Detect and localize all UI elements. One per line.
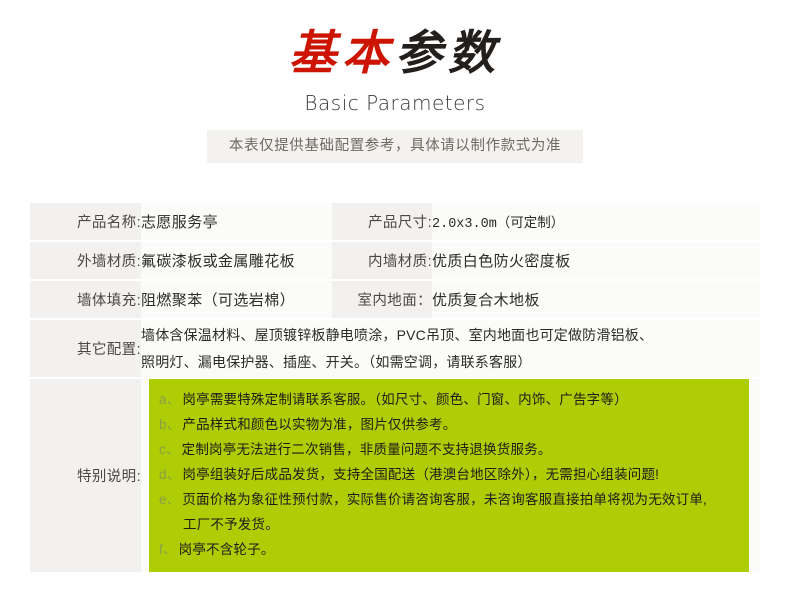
spec-table: 产品名称: 志愿服务亭 产品尺寸: 2.0x3.0m（可定制） 外墙材质: 氟碳… bbox=[30, 203, 760, 572]
cell-value-other-config: 墙体含保温材料、屋顶镀锌板静电喷涂，PVC吊顶、室内地面也可定做防滑铝板、 照明… bbox=[141, 319, 760, 378]
note-bullet: d、 bbox=[159, 467, 182, 482]
note-item: c、定制岗亭无法进行二次销售，非质量问题不支持退换货服务。 bbox=[159, 437, 739, 462]
table-row: 墙体填充: 阻燃聚苯（可选岩棉） 室内地面： 优质复合木地板 bbox=[30, 280, 760, 319]
special-note-box: a、岗亭需要特殊定制请联系客服。（如尺寸、颜色、门窗、内饰、广告字等） b、产品… bbox=[149, 379, 749, 572]
cell-value-product-name: 志愿服务亭 bbox=[141, 203, 332, 241]
cell-value-product-size: 2.0x3.0m（可定制） bbox=[432, 203, 760, 241]
note-bullet: b、 bbox=[159, 417, 182, 432]
cell-label-product-size: 产品尺寸: bbox=[332, 203, 432, 241]
table-row: 产品名称: 志愿服务亭 产品尺寸: 2.0x3.0m（可定制） bbox=[30, 203, 760, 241]
cell-value-interior-material: 优质白色防火密度板 bbox=[432, 241, 760, 280]
cell-value-indoor-floor: 优质复合木地板 bbox=[432, 280, 760, 319]
note-item: a、岗亭需要特殊定制请联系客服。（如尺寸、颜色、门窗、内饰、广告字等） bbox=[159, 387, 739, 412]
page-bottom-spacer bbox=[30, 565, 760, 566]
note-item-continuation: 工厂不予发货。 bbox=[159, 512, 739, 537]
cell-label-other-config: 其它配置: bbox=[30, 319, 141, 378]
notice-banner-wrap: 本表仅提供基础配置参考，具体请以制作款式为准 bbox=[0, 130, 790, 163]
cell-label-exterior-material: 外墙材质: bbox=[30, 241, 141, 280]
note-item: e、页面价格为象征性预付款，实际售价请咨询客服，未咨询客服直接拍单将视为无效订单… bbox=[159, 487, 739, 512]
note-text: 工厂不予发货。 bbox=[183, 517, 279, 532]
cell-value-special-note: a、岗亭需要特殊定制请联系客服。（如尺寸、颜色、门窗、内饰、广告字等） b、产品… bbox=[141, 378, 760, 572]
cell-label-product-name: 产品名称: bbox=[30, 203, 141, 241]
note-bullet: a、 bbox=[159, 392, 182, 407]
cell-label-interior-material: 内墙材质: bbox=[332, 241, 432, 280]
note-text: 岗亭不含轮子。 bbox=[179, 542, 275, 557]
page-title-red: 基本 bbox=[289, 28, 395, 80]
page-title-dark: 参数 bbox=[395, 28, 501, 80]
note-text: 页面价格为象征性预付款，实际售价请咨询客服，未咨询客服直接拍单将视为无效订单, bbox=[182, 492, 707, 507]
product-spec-page: 基本参数 Basic Parameters 本表仅提供基础配置参考，具体请以制作… bbox=[0, 0, 790, 590]
cell-value-wall-filling: 阻燃聚苯（可选岩棉） bbox=[141, 280, 332, 319]
other-config-text: 墙体含保温材料、屋顶镀锌板静电喷涂，PVC吊顶、室内地面也可定做防滑铝板、 照明… bbox=[141, 322, 760, 376]
note-item: b、产品样式和颜色以实物为准，图片仅供参考。 bbox=[159, 412, 739, 437]
note-bullet: e、 bbox=[159, 492, 182, 507]
other-config-line-1: 墙体含保温材料、屋顶镀锌板静电喷涂，PVC吊顶、室内地面也可定做防滑铝板、 bbox=[141, 322, 760, 349]
note-bullet: f、 bbox=[159, 542, 179, 557]
cell-label-wall-filling: 墙体填充: bbox=[30, 280, 141, 319]
note-text: 岗亭组装好后成品发货，支持全国配送（港澳台地区除外），无需担心组装问题! bbox=[182, 467, 659, 482]
note-text: 岗亭需要特殊定制请联系客服。（如尺寸、颜色、门窗、内饰、广告字等） bbox=[182, 392, 627, 407]
notice-banner: 本表仅提供基础配置参考，具体请以制作款式为准 bbox=[207, 130, 583, 163]
page-subtitle-en: Basic Parameters bbox=[0, 90, 790, 116]
other-config-line-2: 照明灯、漏电保护器、插座、开关。（如需空调，请联系客服） bbox=[141, 349, 760, 376]
note-text: 定制岗亭无法进行二次销售，非质量问题不支持退换货服务。 bbox=[182, 442, 552, 457]
cell-label-special-note: 特别说明: bbox=[30, 378, 141, 572]
note-bullet: c、 bbox=[159, 442, 182, 457]
page-header: 基本参数 Basic Parameters 本表仅提供基础配置参考，具体请以制作… bbox=[0, 0, 790, 163]
note-item: f、岗亭不含轮子。 bbox=[159, 537, 739, 562]
table-row-other-config: 其它配置: 墙体含保温材料、屋顶镀锌板静电喷涂，PVC吊顶、室内地面也可定做防滑… bbox=[30, 319, 760, 378]
spec-table-wrap: 产品名称: 志愿服务亭 产品尺寸: 2.0x3.0m（可定制） 外墙材质: 氟碳… bbox=[30, 203, 760, 572]
cell-value-exterior-material: 氟碳漆板或金属雕花板 bbox=[141, 241, 332, 280]
page-title: 基本参数 bbox=[0, 28, 790, 84]
table-row: 外墙材质: 氟碳漆板或金属雕花板 内墙材质: 优质白色防火密度板 bbox=[30, 241, 760, 280]
cell-label-indoor-floor: 室内地面： bbox=[332, 280, 432, 319]
note-text: 产品样式和颜色以实物为准，图片仅供参考。 bbox=[182, 417, 456, 432]
table-row-special-note: 特别说明: a、岗亭需要特殊定制请联系客服。（如尺寸、颜色、门窗、内饰、广告字等… bbox=[30, 378, 760, 572]
note-item: d、岗亭组装好后成品发货，支持全国配送（港澳台地区除外），无需担心组装问题! bbox=[159, 462, 739, 487]
